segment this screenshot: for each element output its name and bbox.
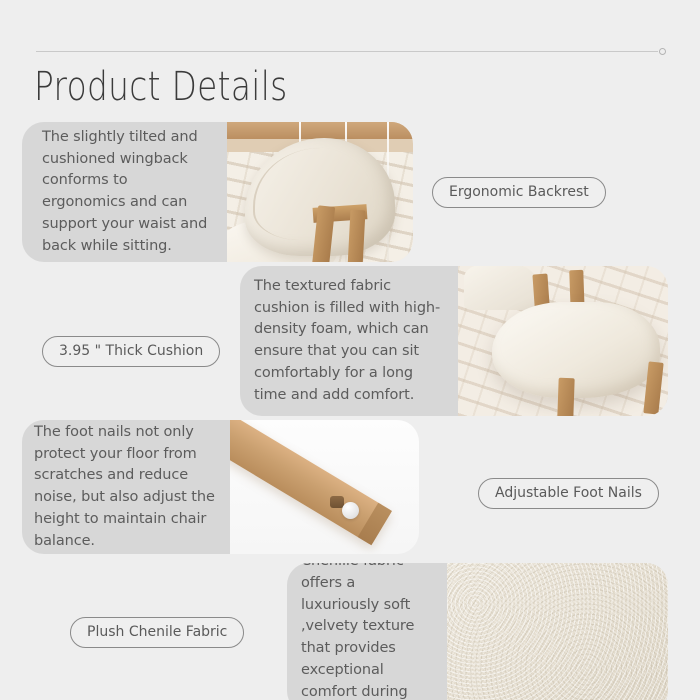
wooden-leg-foot-nail-photo — [230, 420, 419, 554]
photo-chair-leg-c — [557, 378, 574, 416]
feature-text-panel: The slightly tilted and cushioned wingba… — [22, 122, 227, 262]
page-title: Product Details — [34, 64, 288, 110]
rule-end-circle-icon — [659, 48, 666, 55]
feature-card-plush-chenile-fabric: Chenille fabric offers a luxuriously sof… — [287, 563, 668, 700]
feature-card-adjustable-foot-nails: The foot nails not only protect your flo… — [22, 420, 419, 554]
photo-chair-backrest-small — [464, 266, 536, 310]
pill-thick-cushion[interactable]: 3.95 " Thick Cushion — [42, 336, 220, 367]
chenille-fabric-swatch-photo — [447, 563, 668, 700]
feature-body-text: The foot nails not only protect your flo… — [34, 422, 218, 553]
feature-text-panel: The foot nails not only protect your flo… — [22, 420, 230, 554]
pill-ergonomic-backrest[interactable]: Ergonomic Backrest — [432, 177, 606, 208]
feature-card-thick-cushion: The textured fabric cushion is filled wi… — [240, 266, 668, 416]
pill-adjustable-foot-nails[interactable]: Adjustable Foot Nails — [478, 478, 659, 509]
chair-backrest-photo — [227, 122, 413, 262]
header-divider-rule — [36, 51, 658, 52]
feature-text-panel: Chenille fabric offers a luxuriously sof… — [287, 563, 447, 700]
photo-wall-strip — [227, 122, 413, 139]
photo-wooden-leg — [230, 420, 392, 545]
pill-plush-chenile-fabric[interactable]: Plush Chenile Fabric — [70, 617, 244, 648]
photo-seat-cushion — [492, 302, 660, 398]
photo-chair-leg-2 — [347, 210, 365, 262]
photo-foot-nail — [342, 502, 359, 519]
feature-body-text: The slightly tilted and cushioned wingba… — [42, 127, 213, 258]
seat-cushion-photo — [458, 266, 668, 416]
feature-card-ergonomic-backrest: The slightly tilted and cushioned wingba… — [22, 122, 413, 262]
feature-body-text: The textured fabric cushion is filled wi… — [254, 276, 446, 407]
feature-text-panel: The textured fabric cushion is filled wi… — [240, 266, 458, 416]
feature-body-text: Chenille fabric offers a luxuriously sof… — [301, 563, 437, 700]
